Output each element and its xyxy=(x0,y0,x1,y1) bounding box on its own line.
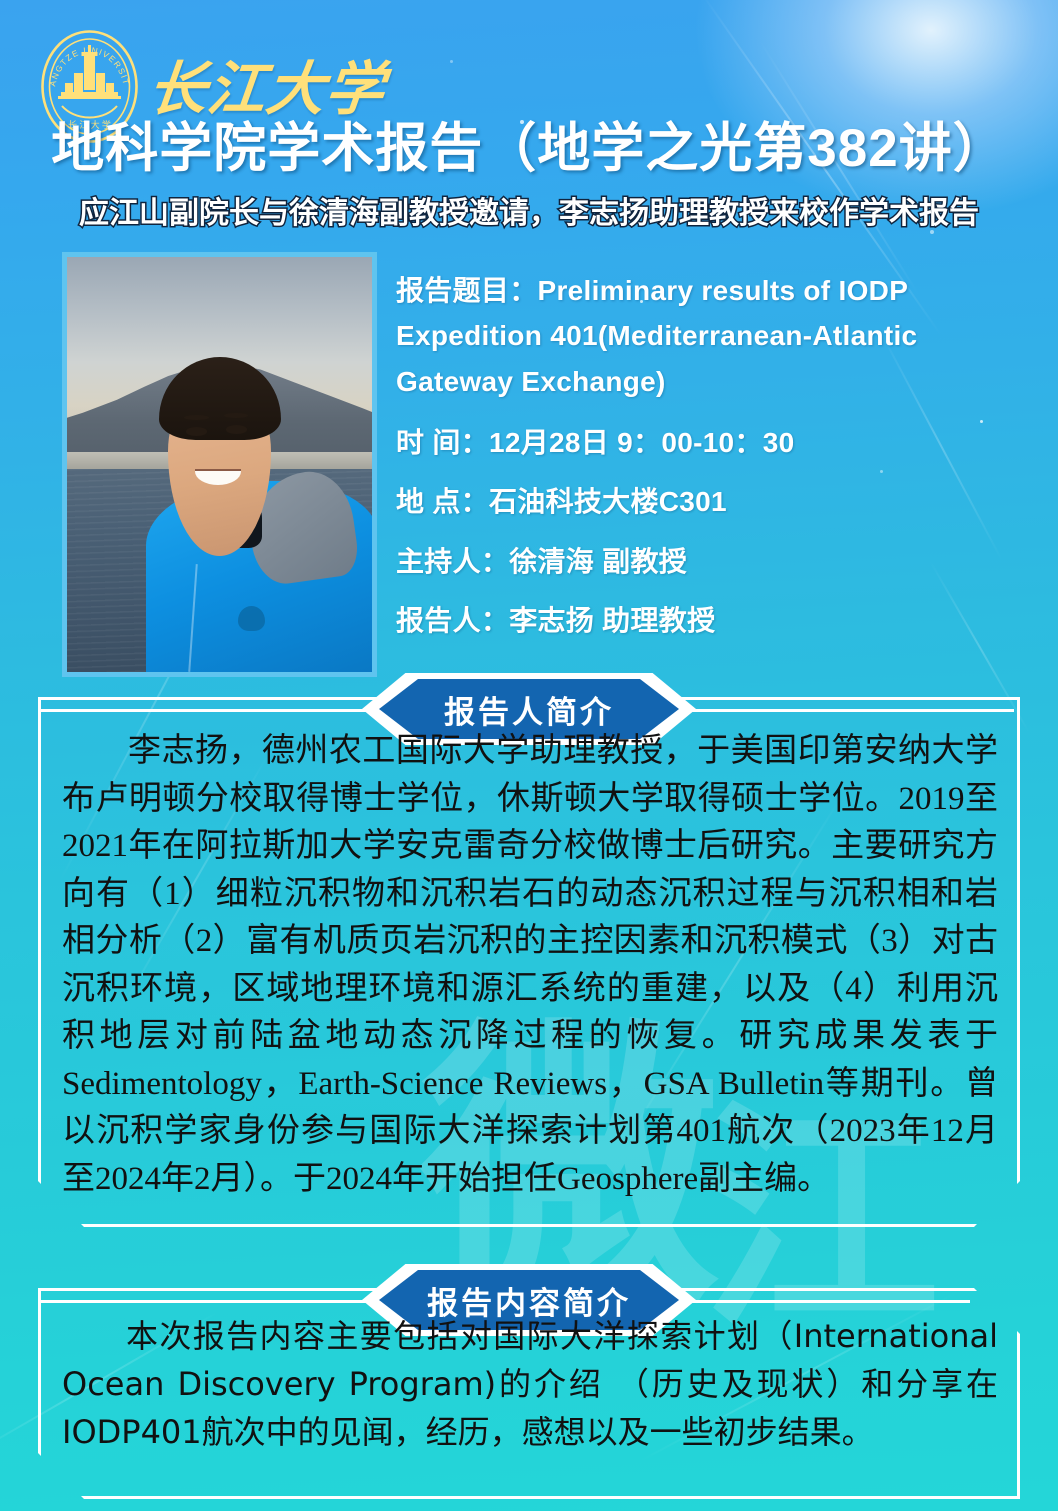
speaker-bio-text: 李志扬，德州农工国际大学助理教授，于美国印第安纳大学布卢明顿分校取得博士学位，休… xyxy=(62,728,998,1203)
banner-wing-right-2 xyxy=(680,1300,970,1303)
talk-topic: 报告题目：Preliminary results of IODP Expedit… xyxy=(396,268,1012,404)
speaker-photo xyxy=(62,252,377,677)
poster-root: 微 江 YANGTZE UNIVERSITY xyxy=(0,0,1058,1511)
banner-wing-left-2 xyxy=(38,1300,378,1303)
page-title: 地科学院学术报告（地学之光第382讲） xyxy=(0,106,1058,182)
talk-info-list: 报告题目：Preliminary results of IODP Expedit… xyxy=(396,268,1012,658)
talk-location: 地 点：石油科技大楼C301 xyxy=(396,479,1012,524)
banner-wing-left-1 xyxy=(38,709,378,712)
talk-host: 主持人：徐清海 副教授 xyxy=(396,539,1012,584)
talk-abstract-text: 本次报告内容主要包括对国际大洋探索计划（International Ocean … xyxy=(62,1312,998,1456)
talk-time: 时 间：12月28日 9：00-10：30 xyxy=(396,420,1012,465)
page-subtitle: 应江山副院长与徐清海副教授邀请，李志扬助理教授来校作学术报告 xyxy=(0,188,1058,232)
talk-speaker: 报告人：李志扬 助理教授 xyxy=(396,598,1012,643)
banner-wing-right-1 xyxy=(680,709,1014,712)
